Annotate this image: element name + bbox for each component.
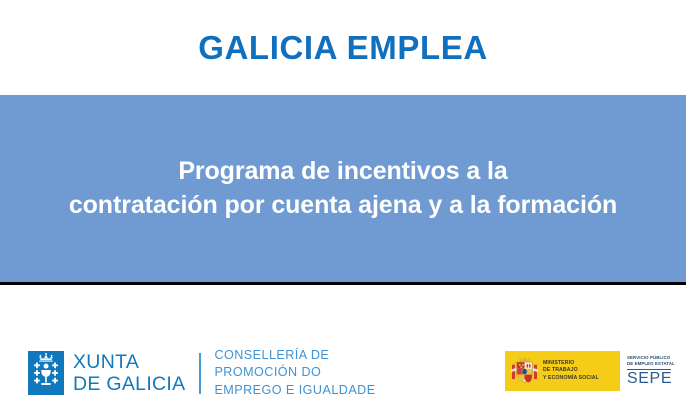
conselleria-label: CONSELLERÍA DE PROMOCIÓN DO EMPREGO E IG…: [214, 347, 375, 399]
program-banner: Programa de incentivos a la contratación…: [0, 95, 686, 282]
xunta-de-galicia-logo: XUNTA DE GALICIA CONSELLERÍA DE PROMOCIÓ…: [28, 347, 376, 399]
sepe-subtitle-line-2: DE EMPLEO ESTATAL: [627, 361, 686, 367]
sepe-acronym: SEPE: [627, 371, 686, 387]
ministerio-line-3: Y ECONOMÍA SOCIAL: [543, 375, 599, 383]
ministerio-wordmark: MINISTERIO DE TRABAJO Y ECONOMÍA SOCIAL: [543, 360, 599, 383]
conselleria-line-1: CONSELLERÍA DE: [214, 347, 375, 364]
xunta-wordmark: XUNTA DE GALICIA: [73, 351, 185, 395]
grail-and-crosses-icon: [28, 351, 64, 395]
ministerio-trabajo-logo: MINISTERIO DE TRABAJO Y ECONOMÍA SOCIAL: [505, 351, 617, 391]
logo-divider: [199, 353, 201, 394]
escudo-de-espana-icon: [511, 355, 538, 387]
conselleria-line-3: EMPREGO E IGUALDADE: [214, 382, 375, 399]
banner-text: Programa de incentivos a la contratación…: [55, 155, 631, 222]
ministerio-line-2: DE TRABAJO: [543, 367, 599, 375]
gobierno-de-espana-logos: MINISTERIO DE TRABAJO Y ECONOMÍA SOCIAL …: [505, 351, 686, 391]
sepe-logo: SERVICIO PÚBLICO DE EMPLEO ESTATAL SEPE: [617, 351, 686, 391]
xunta-de-galicia-emblem: [28, 351, 64, 395]
banner-line-2: contratación por cuenta ajena y a la for…: [69, 189, 617, 222]
coat-of-arms-icon: [511, 355, 538, 387]
footer-zone: XUNTA DE GALICIA CONSELLERÍA DE PROMOCIÓ…: [0, 285, 686, 410]
xunta-wordmark-line-2: DE GALICIA: [73, 373, 185, 395]
ministerio-line-1: MINISTERIO: [543, 360, 599, 368]
conselleria-line-2: PROMOCIÓN DO: [214, 364, 375, 381]
banner-line-1: Programa de incentivos a la: [69, 155, 617, 188]
header-zone: GALICIA EMPLEA: [0, 0, 686, 95]
xunta-wordmark-line-1: XUNTA: [73, 351, 185, 373]
page-title: GALICIA EMPLEA: [198, 31, 488, 64]
